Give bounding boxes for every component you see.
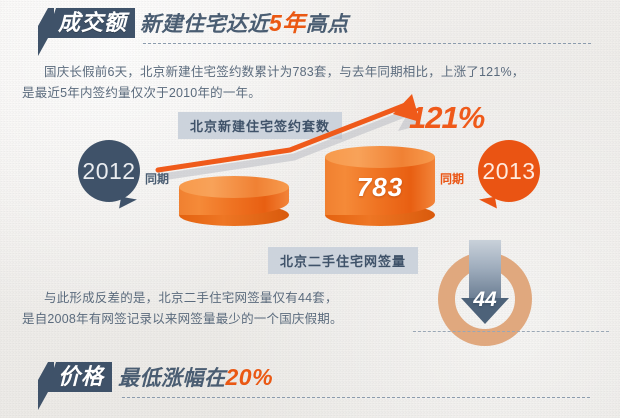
cylinder-bar-2012-top [179, 176, 289, 198]
bubble-year-2012: 2012 [78, 140, 140, 202]
cylinder-bar-2013-top [325, 146, 435, 168]
banner-top: 成交额 新建住宅达近5年高点 [0, 4, 620, 52]
cylinder-bar-2013-value: 783 [325, 172, 435, 203]
down-arrow: 44 [455, 240, 515, 344]
bubble-year-2012-note: 同期 [145, 170, 169, 187]
cylinder-bar-2012 [179, 176, 289, 226]
banner-top-headline-highlight: 5年 [269, 10, 306, 36]
cylinder-bar-2013: 783 [325, 146, 435, 226]
bubble-year-2012-label: 2012 [82, 158, 135, 185]
down-arrow-value: 44 [455, 288, 515, 312]
banner-top-headline-prefix: 新建住宅达近 [140, 13, 269, 36]
paragraph-1-line-1: 国庆长假前6天，北京新建住宅签约数累计为783套，与去年同期相比，上涨了121%… [44, 62, 524, 83]
growth-percentage-label: 121% [409, 100, 484, 136]
paragraph-2-line-1: 与此形成反差的是，北京二手住宅网签量仅有44套， [44, 288, 338, 309]
banner-bottom-tag: 价格 [46, 362, 112, 392]
bubble-year-2013-tail [479, 197, 497, 212]
banner-bottom-headline-prefix: 最低涨幅在 [118, 367, 226, 390]
paragraph-2-line-2: 是自2008年有网签记录以来网签量最少的一个国庆假期。 [22, 309, 343, 330]
chart-bottom-badge: 北京二手住宅网签量 [268, 247, 418, 274]
bubble-year-2012-tail [119, 197, 137, 212]
bubble-year-2013: 2013 [478, 140, 540, 202]
banner-bottom-headline: 最低涨幅在20% [118, 362, 273, 392]
banner-bottom: 价格 最低涨幅在20% [0, 358, 620, 406]
banner-top-tag: 成交额 [46, 8, 135, 38]
infographic-page: 成交额 新建住宅达近5年高点 国庆长假前6天，北京新建住宅签约数累计为783套，… [0, 0, 620, 418]
chart-bottom-baseline [413, 331, 609, 332]
bubble-year-2013-label: 2013 [482, 158, 535, 185]
banner-top-divider [143, 43, 591, 44]
banner-top-headline-suffix: 高点 [306, 13, 349, 36]
banner-top-headline: 新建住宅达近5年高点 [140, 8, 349, 38]
bubble-year-2013-note: 同期 [440, 170, 464, 187]
banner-bottom-headline-highlight: 20% [226, 364, 274, 390]
banner-bottom-divider [122, 397, 590, 398]
